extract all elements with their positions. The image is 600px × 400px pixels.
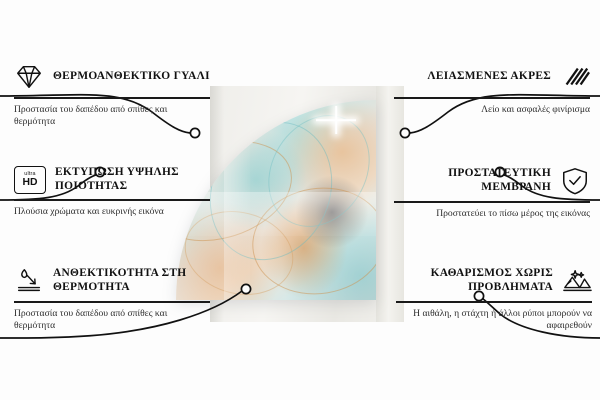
- feature-high-quality-print: ultra HD ΕΚΤΥΠΩΣΗ ΥΨΗΛΗΣ ΠΟΙΟΤΗΤΑΣ Πλούσ…: [14, 166, 210, 218]
- divider: [394, 201, 590, 203]
- connector-dot: [190, 128, 199, 137]
- connector-dot: [241, 284, 250, 293]
- divider: [14, 199, 210, 201]
- divider: [14, 97, 210, 99]
- feature-description: Πλούσια χρώματα και ευκρινής εικόνα: [14, 206, 210, 218]
- diagonal-lines-icon: [560, 62, 590, 92]
- feature-title: ΛΕΙΑΣΜΕΝΕΣ ΑΚΡΕΣ: [427, 70, 551, 84]
- ultra-hd-icon: ultra HD: [14, 166, 46, 194]
- divider: [396, 301, 592, 303]
- feature-description: Προστατεύει το πίσω μέρος της εικόνας: [394, 208, 590, 220]
- feature-description: Προστασία του δαπέδου από σπίθες και θερ…: [14, 308, 210, 333]
- divider: [14, 301, 210, 303]
- feature-title: ΠΡΟΣΤΑΤΕΥΤΙΚΗ ΜΕΜΒΡΑΝΗ: [394, 167, 551, 194]
- feature-title: ΘΕΡΜΟΑΝΘΕΚΤΙΚΟ ΓΥΑΛΙ: [53, 70, 210, 84]
- feature-title: ΑΝΘΕΚΤΙΚΟΤΗΤΑ ΣΤΗ ΘΕΡΜΟΤΗΤΑ: [53, 267, 210, 294]
- infographic-stage: ΘΕΡΜΟΑΝΘΕΚΤΙΚΟ ΓΥΑΛΙ Προστασία του δαπέδ…: [0, 0, 600, 400]
- shield-check-icon: [560, 166, 590, 196]
- flame-arrow-surface-icon: [14, 266, 44, 296]
- feature-polished-edges: ΛΕΙΑΣΜΕΝΕΣ ΑΚΡΕΣ Λείο και ασφαλές φινίρι…: [394, 62, 590, 116]
- feature-title: ΕΚΤΥΠΩΣΗ ΥΨΗΛΗΣ ΠΟΙΟΤΗΤΑΣ: [55, 166, 210, 193]
- sparkle-wipe-icon: [562, 266, 592, 296]
- feature-heat-resistant-glass: ΘΕΡΜΟΑΝΘΕΚΤΙΚΟ ΓΥΑΛΙ Προστασία του δαπέδ…: [14, 62, 210, 128]
- feature-description: Λείο και ασφαλές φινίρισμα: [394, 104, 590, 116]
- feature-title: ΚΑΘΑΡΙΣΜΟΣ ΧΩΡΙΣ ΠΡΟΒΛΗΜΑΤΑ: [396, 267, 553, 294]
- feature-description: Προστασία του δαπέδου από σπίθες και θερ…: [14, 104, 210, 129]
- ultra-hd-icon-large-text: HD: [22, 178, 37, 188]
- feature-description: Η αιθάλη, η στάχτη ή άλλοι ρύποι μπορούν…: [396, 308, 592, 333]
- feature-easy-cleaning: ΚΑΘΑΡΙΣΜΟΣ ΧΩΡΙΣ ΠΡΟΒΛΗΜΑΤΑ Η αιθάλη, η …: [396, 266, 592, 332]
- diamond-icon: [14, 62, 44, 92]
- divider: [394, 97, 590, 99]
- connector-dot: [400, 128, 409, 137]
- feature-heat-durability: ΑΝΘΕΚΤΙΚΟΤΗΤΑ ΣΤΗ ΘΕΡΜΟΤΗΤΑ Προστασία το…: [14, 266, 210, 332]
- feature-protective-film: ΠΡΟΣΤΑΤΕΥΤΙΚΗ ΜΕΜΒΡΑΝΗ Προστατεύει το πί…: [394, 166, 590, 220]
